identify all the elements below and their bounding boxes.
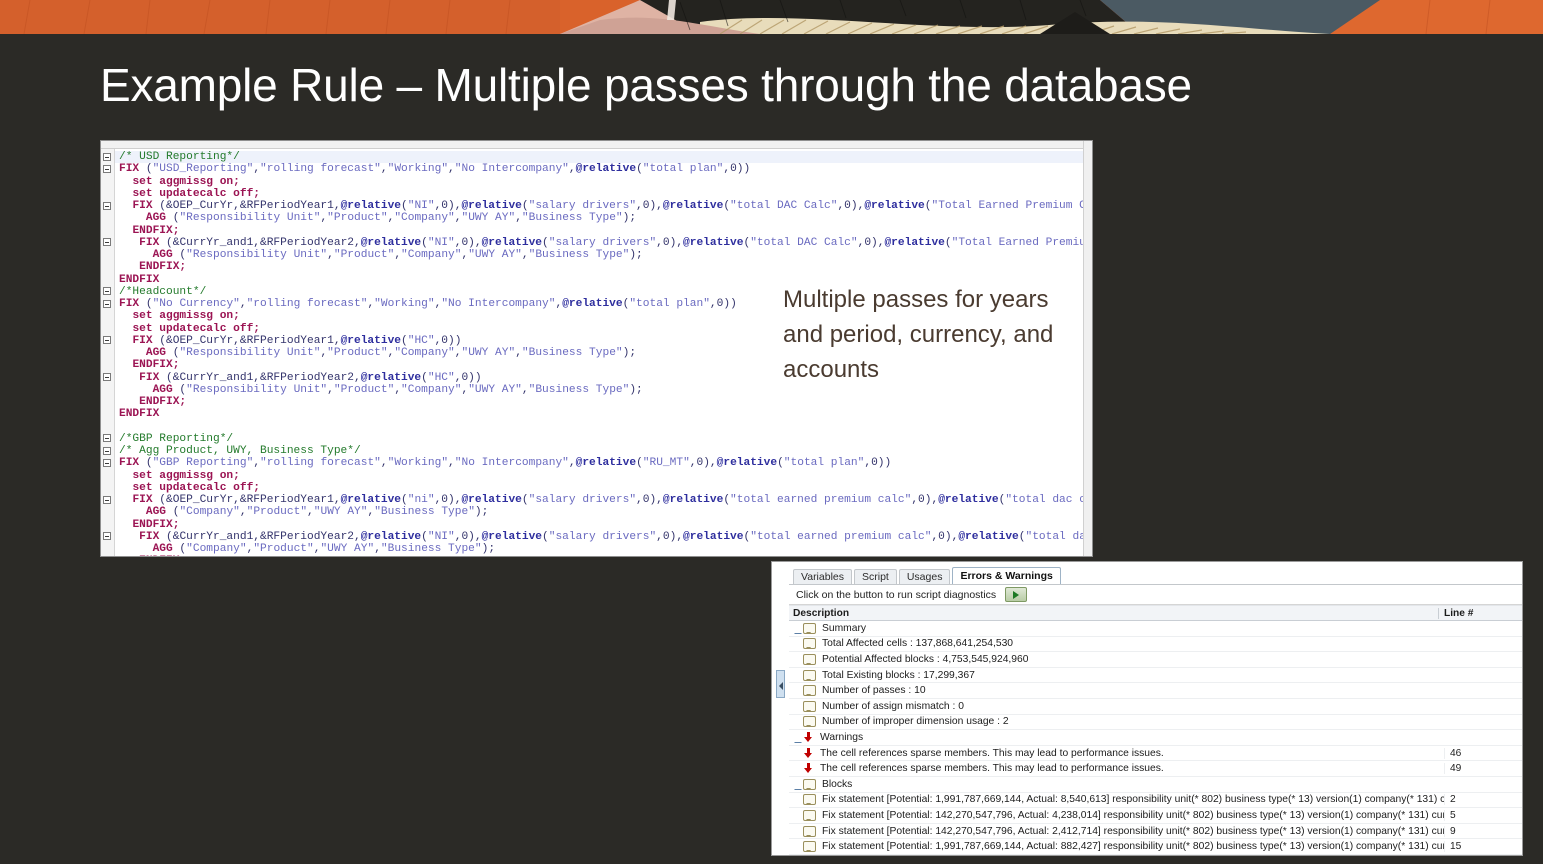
result-description: Blocks — [789, 779, 1444, 790]
message-bubble-icon — [803, 841, 816, 852]
code-line: set aggmissg on; — [115, 176, 1092, 188]
code-fold-toggle-icon[interactable] — [103, 202, 111, 210]
result-row[interactable]: Blocks — [789, 777, 1522, 793]
slide: Example Rule – Multiple passes through t… — [0, 0, 1543, 864]
result-description: Total Existing blocks : 17,299,367 — [789, 670, 1444, 681]
result-text: Fix statement [Potential: 142,270,547,79… — [822, 810, 1444, 821]
code-line: /* Agg Product, UWY, Business Type*/ — [115, 445, 1092, 457]
result-text: Warnings — [820, 732, 863, 743]
result-row[interactable]: Fix statement [Potential: 1,991,787,669,… — [789, 839, 1522, 855]
code-fold-toggle-icon[interactable] — [103, 300, 111, 308]
result-text: Blocks — [822, 779, 852, 790]
code-line: AGG ("Responsibility Unit","Product","Co… — [115, 249, 1092, 261]
code-fold-toggle-icon[interactable] — [103, 447, 111, 455]
message-bubble-icon — [803, 810, 816, 821]
result-description: Total Affected cells : 137,868,641,254,5… — [789, 638, 1444, 649]
result-description: Number of assign mismatch : 0 — [789, 701, 1444, 712]
result-row[interactable]: Potential Affected blocks : 4,753,545,92… — [789, 652, 1522, 668]
code-fold-toggle-icon[interactable] — [103, 238, 111, 246]
callout-multiple-passes: Multiple passes for years and period, cu… — [783, 282, 1088, 387]
result-description: Number of improper dimension usage : 2 — [789, 716, 1444, 727]
result-description: Fix statement [Potential: 1,991,787,669,… — [789, 794, 1444, 805]
code-line: AGG ("Company","Product","UWY AY","Busin… — [115, 506, 1092, 518]
diagnostics-hint: Click on the button to run script diagno… — [796, 589, 996, 601]
result-description: Number of passes : 10 — [789, 685, 1444, 696]
result-text: Number of improper dimension usage : 2 — [822, 716, 1009, 727]
message-bubble-icon — [803, 654, 816, 665]
column-header-description: Description — [789, 608, 1438, 619]
result-text: Summary — [822, 623, 866, 634]
result-text: Number of assign mismatch : 0 — [822, 701, 964, 712]
code-line: ENDFIX; — [115, 519, 1092, 531]
code-line: FIX (&OEP_CurYr,&RFPeriodYear1,@relative… — [115, 200, 1092, 212]
result-description: Warnings — [789, 732, 1444, 743]
diagnostics-panel: VariablesScriptUsagesErrors & Warnings C… — [771, 561, 1523, 856]
result-row[interactable]: The cell references sparse members. This… — [789, 761, 1522, 777]
result-row[interactable]: Number of assign mismatch : 0 — [789, 699, 1522, 715]
result-row[interactable]: Fix statement [Potential: 142,270,547,79… — [789, 855, 1522, 856]
result-row[interactable]: The cell references sparse members. This… — [789, 746, 1522, 762]
code-line: AGG ("Company","Product","UWY AY","Busin… — [115, 543, 1092, 555]
code-fold-toggle-icon[interactable] — [103, 434, 111, 442]
tab-errors-warnings[interactable]: Errors & Warnings — [952, 567, 1060, 584]
diagnostics-content: VariablesScriptUsagesErrors & Warnings C… — [789, 562, 1522, 855]
code-line: FIX ("USD_Reporting","rolling forecast",… — [115, 163, 1092, 175]
result-line-number: 9 — [1444, 826, 1522, 837]
code-line — [115, 421, 1092, 433]
code-fold-toggle-icon[interactable] — [103, 153, 111, 161]
code-line: set updatecalc off; — [115, 482, 1092, 494]
code-line: FIX (&CurrYr_and1,&RFPeriodYear2,@relati… — [115, 237, 1092, 249]
result-row[interactable]: Number of passes : 10 — [789, 683, 1522, 699]
result-text: The cell references sparse members. This… — [820, 748, 1164, 759]
tab-usages[interactable]: Usages — [899, 569, 951, 584]
code-line: FIX ("GBP Reporting","rolling forecast",… — [115, 457, 1092, 469]
code-fold-toggle-icon[interactable] — [103, 336, 111, 344]
warning-arrow-icon — [803, 748, 814, 759]
result-row[interactable]: Fix statement [Potential: 142,270,547,79… — [789, 824, 1522, 840]
result-line-number: 5 — [1444, 810, 1522, 821]
code-fold-toggle-icon[interactable] — [103, 373, 111, 381]
message-bubble-icon — [803, 685, 816, 696]
result-text: The cell references sparse members. This… — [820, 763, 1164, 774]
result-text: Fix statement [Potential: 142,270,547,79… — [822, 826, 1444, 837]
code-fold-gutter[interactable] — [101, 149, 115, 557]
message-bubble-icon — [803, 826, 816, 837]
code-line: /* USD Reporting*/ — [115, 151, 1092, 163]
collapse-left-icon[interactable] — [776, 670, 785, 698]
result-text: Fix statement [Potential: 1,991,787,669,… — [822, 841, 1444, 852]
tab-script[interactable]: Script — [854, 569, 897, 584]
result-row[interactable]: Summary — [789, 621, 1522, 637]
panel-collapse-rail[interactable] — [772, 562, 790, 855]
message-bubble-icon — [803, 794, 816, 805]
result-row[interactable]: Total Affected cells : 137,868,641,254,5… — [789, 637, 1522, 653]
code-line: ENDFIX; — [115, 261, 1092, 273]
result-line-number: 2 — [1444, 794, 1522, 805]
code-fold-toggle-icon[interactable] — [103, 459, 111, 467]
banner-artwork — [0, 0, 1543, 34]
result-text: Total Affected cells : 137,868,641,254,5… — [822, 638, 1013, 649]
code-line: ENDFIX; — [115, 396, 1092, 408]
result-row[interactable]: Number of improper dimension usage : 2 — [789, 715, 1522, 731]
result-line-number: 49 — [1444, 763, 1522, 774]
result-row[interactable]: Fix statement [Potential: 1,991,787,669,… — [789, 793, 1522, 809]
code-line: FIX (&OEP_CurYr,&RFPeriodYear1,@relative… — [115, 494, 1092, 506]
message-bubble-icon — [803, 623, 816, 634]
message-bubble-icon — [803, 716, 816, 727]
warning-arrow-icon — [803, 763, 814, 774]
result-description: The cell references sparse members. This… — [789, 748, 1444, 759]
code-line: ENDFIX — [115, 408, 1092, 420]
message-bubble-icon — [803, 701, 816, 712]
result-line-number: 46 — [1444, 748, 1522, 759]
message-bubble-icon — [803, 779, 816, 790]
run-diagnostics-button[interactable] — [1005, 587, 1027, 602]
results-column-header: Description Line # — [789, 605, 1522, 621]
warning-arrow-icon — [803, 732, 814, 743]
page-title: Example Rule – Multiple passes through t… — [100, 52, 1440, 118]
code-fold-toggle-icon[interactable] — [103, 496, 111, 504]
result-description: Fix statement [Potential: 1,991,787,669,… — [789, 841, 1444, 852]
result-description: Fix statement [Potential: 142,270,547,79… — [789, 810, 1444, 821]
result-text: Potential Affected blocks : 4,753,545,92… — [822, 654, 1028, 665]
code-line: AGG ("Responsibility Unit","Product","Co… — [115, 212, 1092, 224]
result-row[interactable]: Fix statement [Potential: 142,270,547,79… — [789, 808, 1522, 824]
result-text: Total Existing blocks : 17,299,367 — [822, 670, 975, 681]
column-header-line: Line # — [1438, 608, 1522, 619]
result-text: Fix statement [Potential: 1,991,787,669,… — [822, 794, 1444, 805]
code-line: set aggmissg on; — [115, 470, 1092, 482]
play-icon — [1013, 591, 1019, 599]
code-fold-toggle-icon[interactable] — [103, 287, 111, 295]
message-bubble-icon — [803, 638, 816, 649]
results-tree[interactable]: SummaryTotal Affected cells : 137,868,64… — [789, 621, 1522, 856]
code-line: ENDFIX; — [115, 555, 1092, 557]
code-line: ENDFIX; — [115, 225, 1092, 237]
result-description: Potential Affected blocks : 4,753,545,92… — [789, 654, 1444, 665]
result-description: Summary — [789, 623, 1444, 634]
result-line-number: 15 — [1444, 841, 1522, 852]
code-fold-toggle-icon[interactable] — [103, 532, 111, 540]
result-row[interactable]: Warnings — [789, 730, 1522, 746]
code-fold-toggle-icon[interactable] — [103, 165, 111, 173]
result-row[interactable]: Total Existing blocks : 17,299,367 — [789, 668, 1522, 684]
code-editor-toolbar — [101, 141, 1092, 149]
result-text: Number of passes : 10 — [822, 685, 926, 696]
code-line: set updatecalc off; — [115, 188, 1092, 200]
message-bubble-icon — [803, 670, 816, 681]
result-description: The cell references sparse members. This… — [789, 763, 1444, 774]
tab-variables[interactable]: Variables — [793, 569, 852, 584]
diagnostics-toolbar: Click on the button to run script diagno… — [789, 585, 1522, 605]
result-description: Fix statement [Potential: 142,270,547,79… — [789, 826, 1444, 837]
code-line: /*GBP Reporting*/ — [115, 433, 1092, 445]
decorative-banner — [0, 0, 1543, 34]
code-line: FIX (&CurrYr_and1,&RFPeriodYear2,@relati… — [115, 531, 1092, 543]
diagnostics-tabs[interactable]: VariablesScriptUsagesErrors & Warnings — [789, 562, 1522, 584]
